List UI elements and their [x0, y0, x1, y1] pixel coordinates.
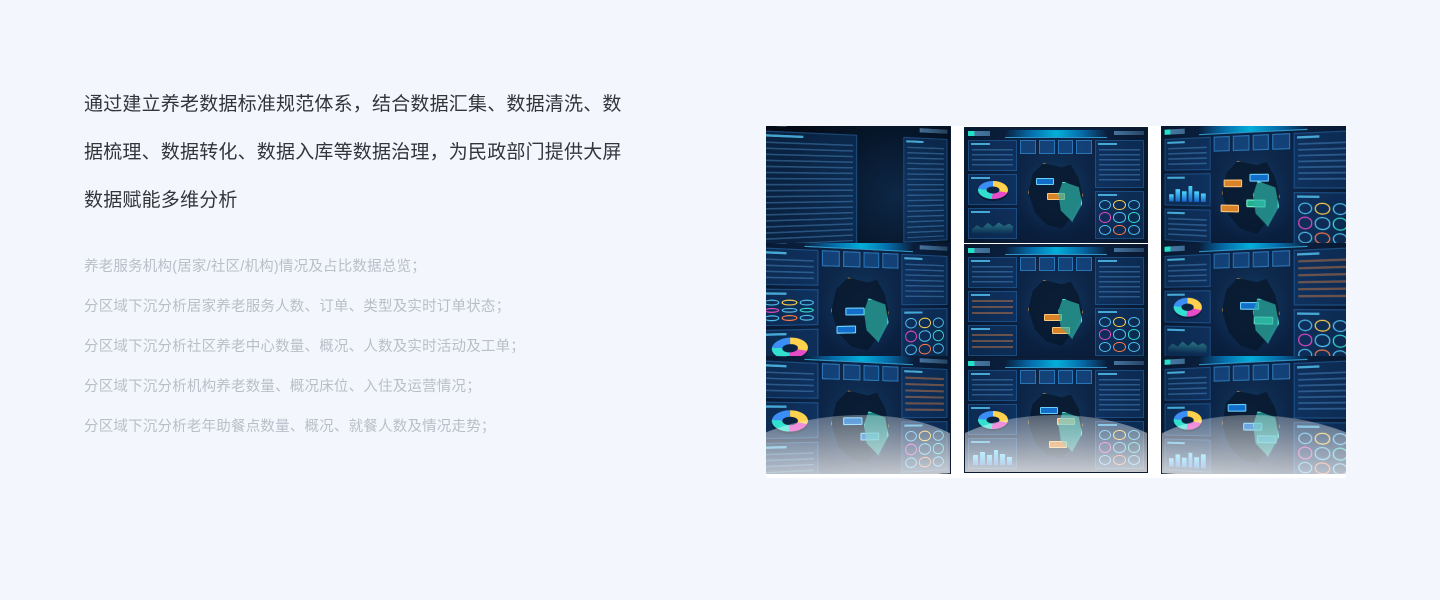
panel-left-widgets — [1165, 254, 1211, 360]
list-item: 分区域下沉分析老年助餐点数量、概况、就餐人数及情况走势； — [84, 407, 644, 447]
panel-clock — [1114, 248, 1144, 252]
panel-kpi-row — [1213, 250, 1290, 266]
list-item: 分区域下沉分析居家养老服务人数、订单、类型及实时订单状态； — [84, 287, 644, 327]
headline-paragraph: 通过建立养老数据标准规范体系，结合数据汇集、数据清洗、数据梳理、数据转化、数据入… — [84, 81, 632, 225]
text-column: 通过建立养老数据标准规范体系，结合数据汇集、数据清洗、数据梳理、数据转化、数据入… — [84, 62, 644, 463]
panel-left-widgets — [766, 360, 819, 474]
dashboard-panel-2[interactable] — [963, 126, 1149, 244]
panel-logo-icon — [766, 243, 787, 244]
panel-logo-icon — [968, 361, 990, 366]
panel-clock — [920, 245, 948, 251]
panel-map — [1213, 267, 1290, 361]
panel-clock — [920, 128, 948, 134]
screen-wall-row — [766, 243, 1346, 363]
panel-title-bar — [1005, 130, 1107, 137]
panel-title-bar — [1005, 247, 1107, 254]
panel-logo-icon — [1165, 129, 1185, 135]
panel-left-widgets — [766, 247, 819, 361]
panel-kpi-row — [1020, 257, 1093, 269]
panel-right-widgets — [1293, 247, 1346, 361]
panel-right-widgets — [901, 254, 947, 360]
panel-right-widgets — [1293, 360, 1346, 474]
panel-title-bar — [1199, 356, 1307, 364]
panel-map — [1213, 150, 1290, 244]
panel-kpi-row — [1020, 140, 1093, 152]
panel-left-widgets — [1165, 137, 1211, 243]
panel-map — [1020, 385, 1093, 468]
list-item: 养老服务机构(居家/社区/机构)情况及占比数据总览； — [84, 247, 644, 287]
panel-kpi-row — [1213, 133, 1290, 149]
list-item: 分区域下沉分析社区养老中心数量、概况、人数及实时活动及工单； — [84, 327, 644, 367]
panel-right-widgets — [1095, 257, 1144, 356]
panel-right-widgets — [1293, 130, 1346, 244]
panel-node-column — [903, 137, 947, 243]
panel-clock — [920, 358, 948, 364]
panel-left-widgets — [968, 257, 1017, 356]
panel-kpi-row — [821, 250, 898, 266]
panel-logo-icon — [1165, 246, 1185, 252]
dashboard-panel-7[interactable] — [766, 356, 952, 474]
panel-left-widgets — [1165, 367, 1211, 473]
dashboard-panel-4[interactable] — [766, 243, 952, 361]
panel-left-widgets — [968, 370, 1017, 469]
panel-map — [821, 267, 898, 361]
panel-clock — [1114, 361, 1144, 365]
dashboard-panel-5[interactable] — [963, 243, 1149, 361]
panel-title-bar — [1199, 243, 1307, 251]
screen-wall-row — [766, 126, 1346, 246]
panel-title-bar — [1005, 360, 1107, 367]
feature-bullet-list: 养老服务机构(居家/社区/机构)情况及占比数据总览； 分区域下沉分析居家养老服务… — [84, 247, 644, 447]
panel-map — [1020, 272, 1093, 355]
panel-kpi-row — [1213, 363, 1290, 379]
panel-map — [1020, 155, 1093, 238]
panel-logo-icon — [766, 126, 787, 127]
panel-logo-icon — [1165, 359, 1185, 365]
panel-kpi-row — [821, 363, 898, 379]
list-item: 分区域下沉分析机构养老数量、概况床位、入住及运营情况； — [84, 367, 644, 407]
panel-logo-icon — [968, 248, 990, 253]
panel-clock — [1114, 131, 1144, 135]
dashboard-panel-9[interactable] — [1160, 356, 1346, 474]
panel-kpi-row — [1020, 370, 1093, 382]
panel-right-widgets — [901, 367, 947, 473]
panel-title-bar — [1199, 126, 1307, 134]
panel-list-column — [766, 130, 857, 244]
panel-logo-icon — [968, 131, 990, 136]
panel-logo-icon — [766, 356, 787, 357]
panel-map — [821, 380, 898, 474]
screen-wall-row — [766, 356, 1346, 476]
panel-left-widgets — [968, 140, 1017, 239]
panel-right-widgets — [1095, 370, 1144, 469]
dashboard-panel-1[interactable] — [766, 126, 952, 244]
dashboard-panel-8[interactable] — [963, 356, 1149, 474]
dashboard-panel-6[interactable] — [1160, 243, 1346, 361]
dashboard-panel-3[interactable] — [1160, 126, 1346, 244]
dashboard-screen-wall — [766, 126, 1346, 478]
panel-map — [1213, 380, 1290, 474]
panel-right-widgets — [1095, 140, 1144, 239]
